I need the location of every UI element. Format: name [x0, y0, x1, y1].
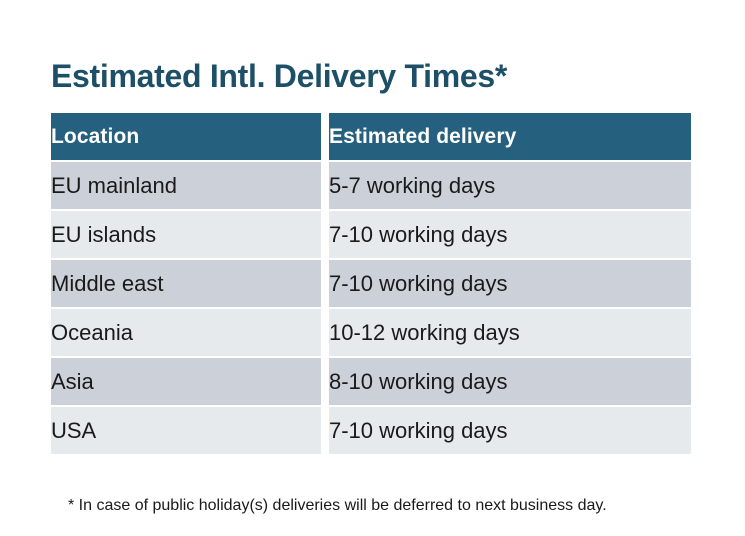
cell-estimated-delivery: 7-10 working days: [329, 211, 691, 258]
column-divider: [321, 309, 329, 356]
cell-location: USA: [51, 407, 321, 454]
table-row: EU islands 7-10 working days: [51, 211, 691, 258]
cell-location: Middle east: [51, 260, 321, 307]
table-row: Asia 8-10 working days: [51, 358, 691, 405]
table-header: Location Estimated delivery: [51, 113, 691, 160]
column-header-estimated-delivery: Estimated delivery: [329, 113, 691, 160]
cell-location: Oceania: [51, 309, 321, 356]
cell-location: EU islands: [51, 211, 321, 258]
column-divider: [321, 211, 329, 258]
table-row: USA 7-10 working days: [51, 407, 691, 454]
footnote: * In case of public holiday(s) deliverie…: [68, 496, 607, 517]
column-divider: [321, 358, 329, 405]
column-divider: [321, 113, 329, 160]
cell-estimated-delivery: 7-10 working days: [329, 407, 691, 454]
cell-estimated-delivery: 7-10 working days: [329, 260, 691, 307]
cell-estimated-delivery: 8-10 working days: [329, 358, 691, 405]
table-row: Oceania 10-12 working days: [51, 309, 691, 356]
cell-estimated-delivery: 5-7 working days: [329, 162, 691, 209]
cell-estimated-delivery: 10-12 working days: [329, 309, 691, 356]
table-body: EU mainland 5-7 working days EU islands …: [51, 160, 691, 454]
table-header-row: Location Estimated delivery: [51, 113, 691, 160]
column-divider: [321, 407, 329, 454]
delivery-times-table: Location Estimated delivery EU mainland …: [51, 113, 691, 454]
delivery-times-page: Estimated Intl. Delivery Times* Location…: [0, 0, 745, 536]
cell-location: Asia: [51, 358, 321, 405]
column-divider: [321, 162, 329, 209]
table-row: Middle east 7-10 working days: [51, 260, 691, 307]
cell-location: EU mainland: [51, 162, 321, 209]
page-title: Estimated Intl. Delivery Times*: [51, 57, 507, 95]
column-divider: [321, 260, 329, 307]
table-row: EU mainland 5-7 working days: [51, 162, 691, 209]
column-header-location: Location: [51, 113, 321, 160]
